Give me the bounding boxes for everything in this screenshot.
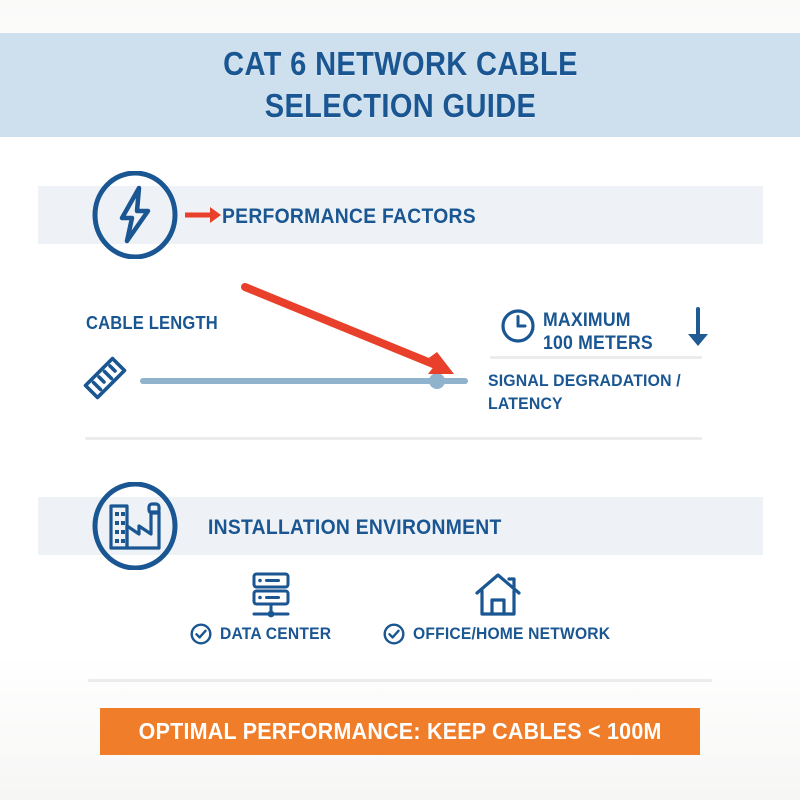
optimal-performance-text: OPTIMAL PERFORMANCE: KEEP CABLES < 100M (139, 718, 662, 745)
header-band: CAT 6 NETWORK CABLE SELECTION GUIDE (0, 33, 800, 137)
red-arrow-icon (184, 205, 222, 230)
data-center-check-row[interactable]: DATA CENTER (190, 623, 341, 645)
office-home-check-row[interactable]: OFFICE/HOME NETWORK (383, 623, 627, 645)
check-circle-icon (383, 623, 405, 645)
house-icon (473, 570, 523, 625)
section-title-environment: INSTALLATION ENVIRONMENT (208, 516, 502, 540)
infographic-canvas: CAT 6 NETWORK CABLE SELECTION GUIDE PERF… (0, 0, 800, 800)
signal-degradation-label: SIGNAL DEGRADATION / LATENCY (488, 370, 681, 416)
section-divider-1 (85, 437, 702, 440)
optimal-performance-banner: OPTIMAL PERFORMANCE: KEEP CABLES < 100M (100, 708, 700, 755)
clock-icon (500, 308, 536, 349)
lightning-bolt-icon (91, 171, 179, 259)
factory-icon (91, 482, 179, 570)
section-divider-2 (88, 679, 712, 682)
down-arrow-icon (684, 306, 712, 353)
section-title-performance: PERFORMANCE FACTORS (222, 205, 476, 229)
ruler-icon (82, 355, 128, 406)
max-length-label: MAXIMUM 100 METERS (543, 309, 653, 355)
server-rack-icon (247, 570, 295, 625)
red-pointer-arrow-icon (240, 282, 465, 392)
data-center-label: DATA CENTER (220, 624, 331, 644)
limit-divider (490, 356, 702, 359)
page-title: CAT 6 NETWORK CABLE SELECTION GUIDE (223, 43, 578, 127)
cable-length-label: CABLE LENGTH (86, 313, 218, 334)
office-home-label: OFFICE/HOME NETWORK (413, 624, 610, 644)
check-circle-icon (190, 623, 212, 645)
